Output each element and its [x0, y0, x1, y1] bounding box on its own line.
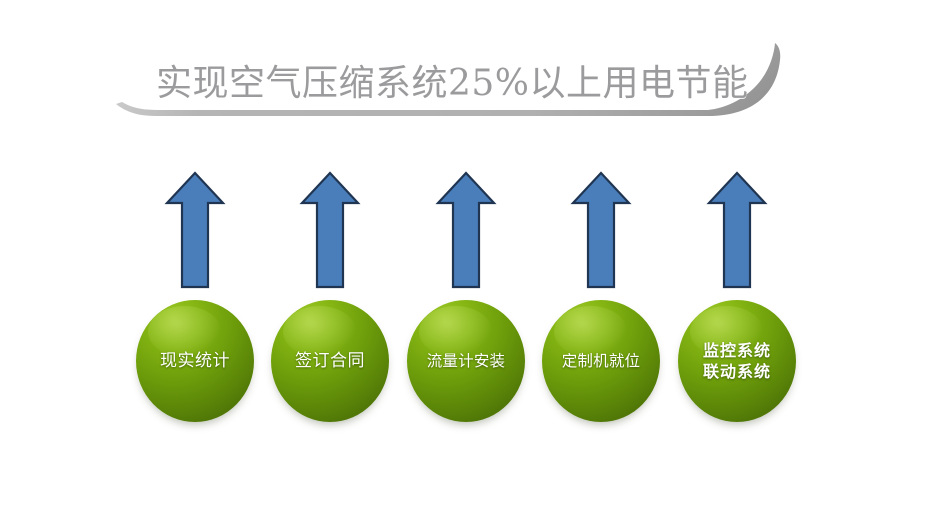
step-label: 签订合同 [291, 350, 369, 372]
arrow-4 [541, 170, 661, 292]
up-arrow-icon [299, 170, 361, 290]
step-circle-1[interactable]: 现实统计 [135, 300, 255, 425]
up-arrow-icon [570, 170, 632, 290]
green-sphere[interactable]: 签订合同 [271, 300, 389, 422]
step-circle-row: 现实统计 签订合同 流量计安装 定制机就位 监控系统 联动系统 [135, 300, 797, 425]
green-sphere[interactable]: 流量计安装 [407, 300, 525, 422]
up-arrow-icon [164, 170, 226, 290]
green-sphere[interactable]: 现实统计 [136, 300, 254, 422]
arrow-row [135, 170, 797, 292]
step-circle-5[interactable]: 监控系统 联动系统 [677, 300, 797, 425]
up-arrow-icon [706, 170, 768, 290]
step-circle-4[interactable]: 定制机就位 [541, 300, 661, 425]
step-label: 监控系统 联动系统 [699, 340, 775, 382]
green-sphere[interactable]: 监控系统 联动系统 [678, 300, 796, 422]
step-circle-3[interactable]: 流量计安装 [406, 300, 526, 425]
page-title: 实现空气压缩系统25%以上用电节能 [156, 56, 756, 112]
arrow-3 [406, 170, 526, 292]
arrow-5 [677, 170, 797, 292]
step-circle-2[interactable]: 签订合同 [270, 300, 390, 425]
title-banner: 实现空气压缩系统25%以上用电节能 [112, 26, 792, 136]
step-label: 定制机就位 [558, 351, 645, 371]
slide-canvas: 实现空气压缩系统25%以上用电节能 [0, 0, 945, 529]
step-label: 现实统计 [156, 350, 234, 372]
arrow-2 [270, 170, 390, 292]
up-arrow-icon [435, 170, 497, 290]
green-sphere[interactable]: 定制机就位 [542, 300, 660, 422]
arrow-1 [135, 170, 255, 292]
step-label: 流量计安装 [423, 351, 510, 371]
